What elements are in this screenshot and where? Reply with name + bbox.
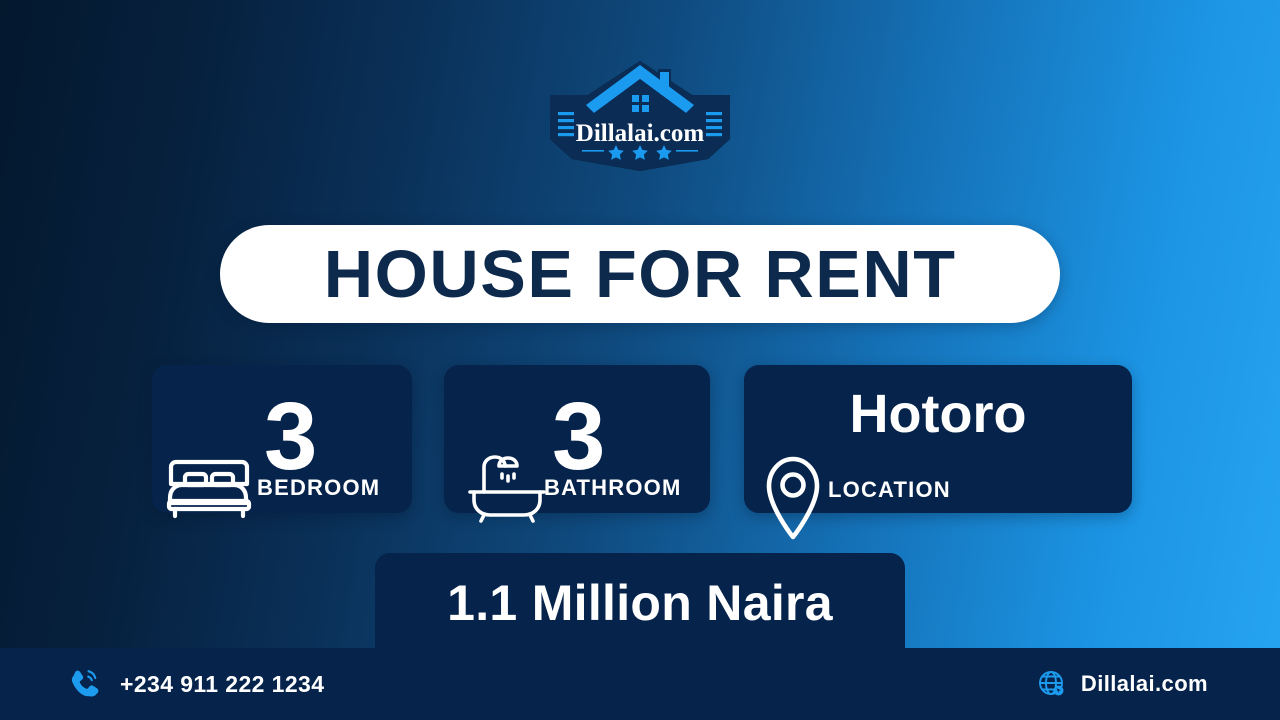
bed-icon: [166, 450, 252, 522]
footer-website-name: Dillalai.com: [1081, 671, 1208, 697]
bedroom-label: BEDROOM: [257, 475, 380, 501]
brand-logo[interactable]: Dillalai.com: [540, 55, 740, 175]
bathroom-label: BATHROOM: [544, 475, 682, 501]
bathtub-icon: [466, 446, 548, 524]
footer-bar: +234 911 222 1234 Dillalai.com: [0, 648, 1280, 720]
footer-phone-contact[interactable]: +234 911 222 1234: [68, 648, 324, 720]
bathroom-count: 3: [552, 389, 605, 485]
footer-phone-number: +234 911 222 1234: [120, 671, 324, 698]
location-name: Hotoro: [744, 387, 1132, 441]
phone-ringing-icon: [68, 667, 102, 701]
footer-website-link[interactable]: Dillalai.com: [1037, 648, 1208, 720]
page-title-banner: HOUSE FOR RENT: [220, 225, 1060, 323]
logo-wordmark: Dillalai.com: [576, 120, 705, 147]
price-amount: 1.1 Million Naira: [447, 578, 833, 628]
bedroom-count: 3: [264, 389, 317, 485]
house-for-rent-poster: Dillalai.com HOUSE FOR RENT 3 BEDROOM 3 …: [0, 0, 1280, 720]
globe-icon: [1037, 669, 1067, 699]
price-banner: 1.1 Million Naira: [375, 553, 905, 653]
map-pin-icon: [762, 452, 824, 540]
house-badge-logo-icon: Dillalai.com: [540, 55, 740, 175]
page-title: HOUSE FOR RENT: [324, 241, 957, 308]
location-label: LOCATION: [828, 477, 951, 503]
